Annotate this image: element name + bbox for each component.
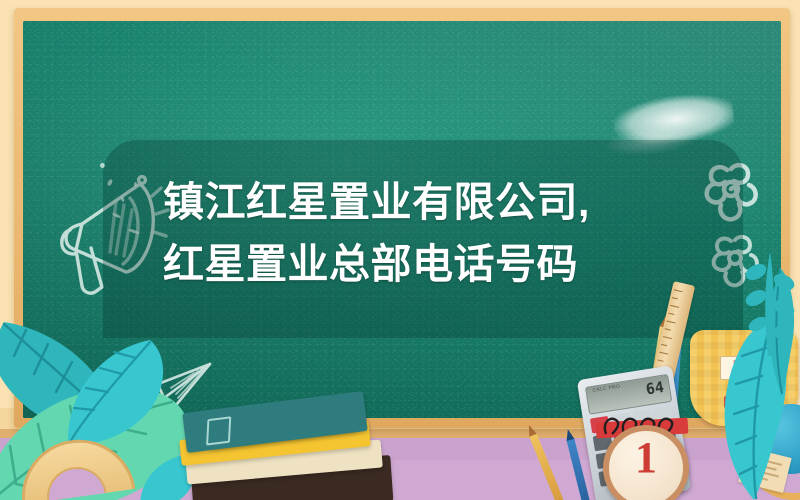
leaf-sprig-chalkboard-icon [742,248,800,358]
banner-image: 镇江红星置业有限公司,红星置业总部电话号码 [0,0,800,500]
magnifying-glass-icon: 1 [603,425,689,500]
calculator-display: 64 [645,378,666,399]
leaf-teal-medium-icon [58,334,178,454]
page-title: 镇江红星置业有限公司,红星置业总部电话号码 [163,171,623,295]
magnifier-number: 1 [609,436,683,480]
book-cover-mark [206,416,231,445]
calculator-brand: CALC PRO [592,384,621,394]
